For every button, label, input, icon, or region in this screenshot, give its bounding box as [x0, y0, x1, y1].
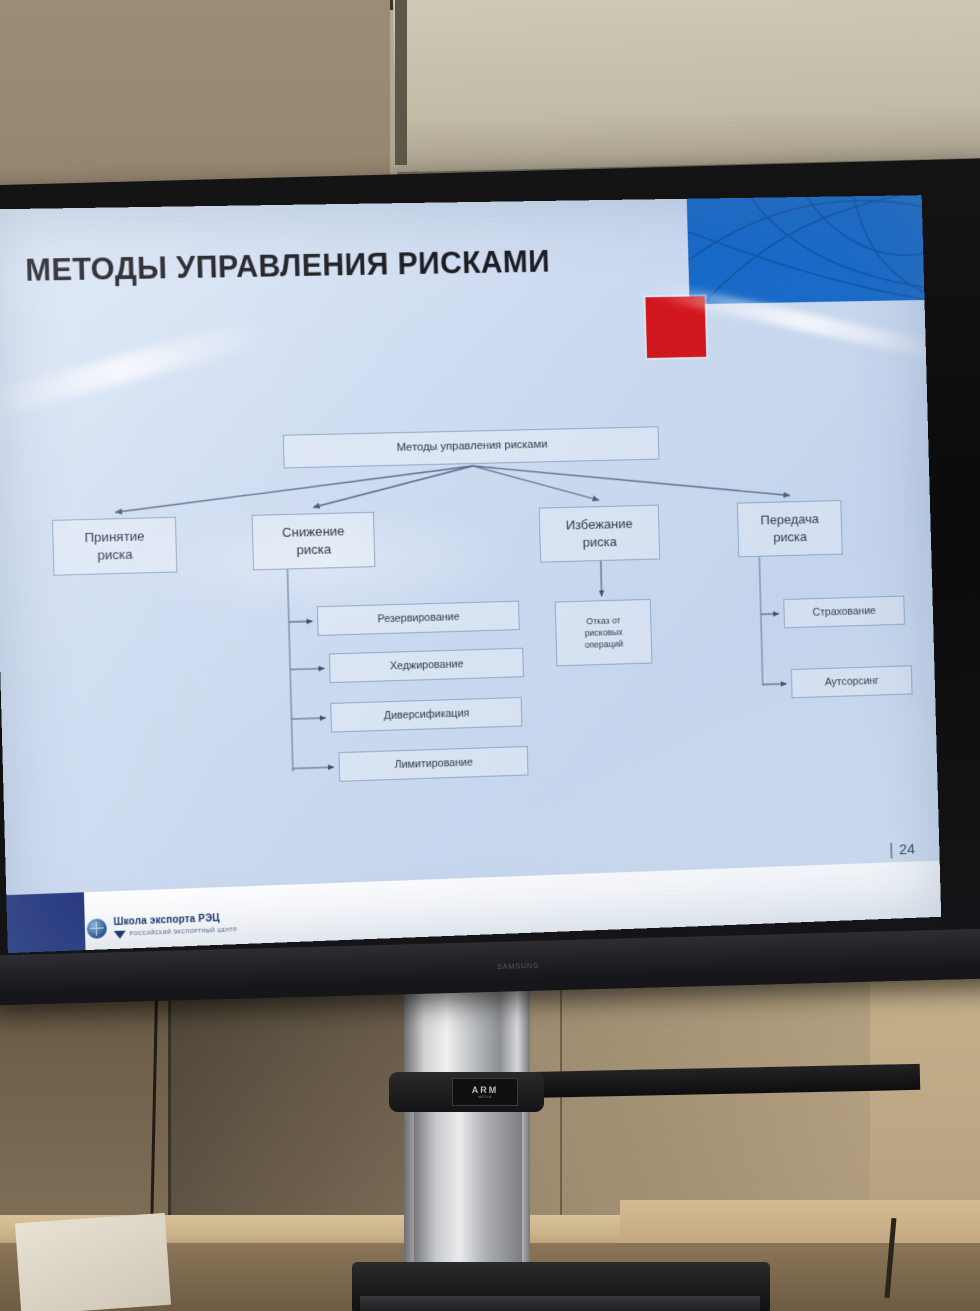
slide-title: МЕТОДЫ УПРАВЛЕНИЯ РИСКАМИ	[25, 244, 551, 289]
node-root-label: Методы управления рисками	[396, 438, 547, 457]
room-photo-scene: SAMSUNG	[0, 0, 980, 1311]
node-outsourcing: Аутсорсинг	[791, 665, 913, 698]
stand-badge-brand: ARM	[472, 1085, 499, 1095]
node-accept-line2: риска	[97, 546, 133, 565]
node-limitation-label: Лимитирование	[394, 755, 473, 772]
node-avoid-risk: Избежание риска	[539, 505, 661, 563]
page-number-value: 24	[899, 841, 915, 858]
node-accept-risk: Принятие риска	[52, 517, 177, 576]
television: SAMSUNG	[0, 158, 980, 1005]
node-diversification-label: Диверсификация	[384, 706, 470, 723]
node-hedging-label: Хеджирование	[390, 657, 464, 674]
node-reduce-line2: риска	[296, 541, 331, 560]
node-hedging: Хеджирование	[329, 648, 524, 683]
decor-blue-block	[687, 195, 925, 304]
globe-icon	[87, 918, 107, 939]
logo-subtitle-row: РОССИЙСКИЙ ЭКСПОРТНЫЙ ЦЕНТР	[114, 926, 238, 939]
triangle-icon	[114, 931, 126, 939]
stand-badge-subtitle: MEDIA	[478, 1095, 492, 1099]
rec-school-logo: Школа экспорта РЭЦ РОССИЙСКИЙ ЭКСПОРТНЫЙ…	[87, 912, 238, 940]
node-insurance: Страхование	[783, 596, 905, 629]
node-avoid-line1: Избежание	[566, 515, 633, 535]
node-refusal-line3: операций	[585, 638, 624, 651]
node-reservation: Резервирование	[317, 601, 520, 636]
node-refusal-of-risky-operations: Отказ от рисковых операций	[555, 599, 653, 667]
node-avoid-line2: риска	[582, 533, 617, 552]
node-transfer-risk: Передача риска	[737, 500, 843, 557]
node-reservation-label: Резервирование	[377, 610, 459, 627]
node-diversification: Диверсификация	[330, 697, 522, 733]
tv-brand-label: SAMSUNG	[483, 962, 553, 974]
stand-shelf-front	[360, 1296, 760, 1311]
tv-screen-panel: МЕТОДЫ УПРАВЛЕНИЯ РИСКАМИ	[0, 195, 941, 953]
slide-page-number: 24	[890, 841, 915, 858]
logo-text-group: Школа экспорта РЭЦ РОССИЙСКИЙ ЭКСПОРТНЫЙ…	[113, 912, 237, 939]
projector-screen-housing	[393, 0, 980, 176]
logo-title: Школа экспорта РЭЦ	[113, 912, 237, 928]
screen-glare-left	[0, 318, 267, 421]
risk-management-diagram: Методы управления рисками Принятие риска…	[0, 420, 938, 831]
decor-line-art-icon	[687, 195, 925, 304]
node-transfer-line2: риска	[773, 528, 807, 547]
projector-screen-bracket	[395, 0, 407, 165]
node-accept-line1: Принятие	[84, 527, 145, 547]
paper-sheet	[15, 1213, 171, 1311]
logo-subtitle: РОССИЙСКИЙ ЭКСПОРТНЫЙ ЦЕНТР	[130, 927, 238, 937]
stand-brand-badge: ARM MEDIA	[452, 1078, 518, 1106]
node-reduce-risk: Снижение риска	[252, 512, 376, 571]
node-refusal-line1: Отказ от	[586, 614, 621, 627]
presentation-slide: МЕТОДЫ УПРАВЛЕНИЯ РИСКАМИ	[0, 195, 941, 953]
node-reduce-line1: Снижение	[282, 522, 345, 542]
stand-column-lower	[414, 1090, 522, 1285]
footer-blue-block	[0, 892, 86, 953]
node-transfer-line1: Передача	[760, 510, 819, 529]
page-number-divider	[890, 842, 892, 858]
node-insurance-label: Страхование	[812, 604, 876, 620]
node-outsourcing-label: Аутсорсинг	[825, 674, 879, 690]
